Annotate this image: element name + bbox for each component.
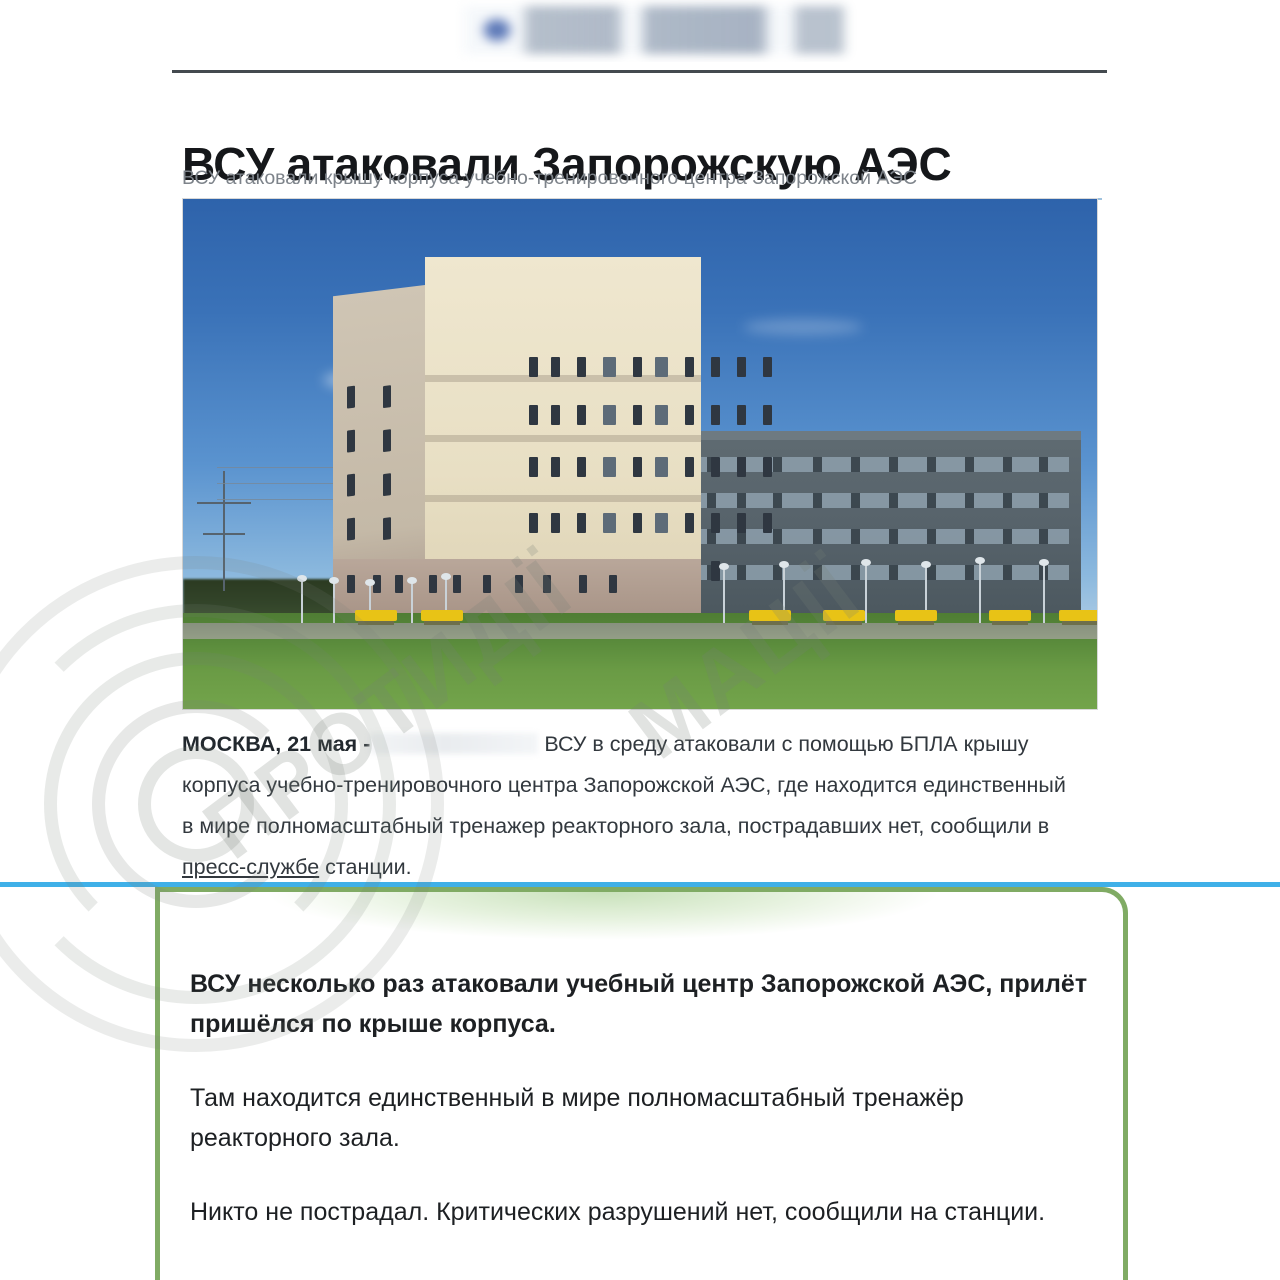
telegram-paragraph-3: Никто не пострадал. Критических разрушен…: [190, 1192, 1102, 1232]
photo-lamp-post: [723, 569, 725, 623]
article-subheadline: ВСУ атаковали крышу корпуса учебно-трени…: [182, 166, 1102, 191]
photo-lamp-post: [865, 565, 867, 623]
telegram-message-bubble: ВСУ несколько раз атаковали учебный цент…: [155, 887, 1128, 1280]
photo-bench: [1059, 610, 1098, 621]
telegram-paragraph-1: ВСУ несколько раз атаковали учебный цент…: [190, 964, 1102, 1044]
telegram-paragraph-2: Там находится единственный в мире полном…: [190, 1078, 1102, 1158]
photo-bench: [355, 610, 397, 621]
article-photo: [182, 198, 1098, 710]
screenshot-root: ВСУ атаковали Запорожскую АЭС ВСУ атаков…: [0, 0, 1280, 1280]
photo-lamp-post: [979, 563, 981, 623]
press-service-link[interactable]: пресс-службе: [182, 855, 319, 879]
photo-lamp-post: [333, 583, 335, 623]
publisher-logo-strip: [0, 0, 1280, 62]
photo-walkway: [183, 623, 1097, 639]
photo-lamp-post: [301, 581, 303, 623]
publisher-logo-blurred: [459, 6, 849, 54]
article-dateline: МОСКВА, 21 мая -: [182, 732, 370, 756]
photo-lamp-post: [1043, 565, 1045, 623]
photo-bench: [895, 610, 937, 621]
article-body: МОСКВА, 21 мая - ВСУ в среду атаковали с…: [182, 724, 1082, 888]
bubble-top-glow: [160, 892, 1123, 966]
photo-bench: [421, 610, 463, 621]
photo-power-pylon: [223, 471, 225, 591]
photo-main-building: [333, 257, 701, 617]
photo-lamp-post: [411, 583, 413, 623]
news-article: ВСУ атаковали Запорожскую АЭС ВСУ атаков…: [0, 62, 1280, 885]
photo-bench: [749, 610, 791, 621]
telegram-message-text: ВСУ несколько раз атаковали учебный цент…: [190, 964, 1102, 1266]
photo-cloud: [743, 319, 863, 335]
redacted-source-name: [370, 733, 538, 754]
photo-bench: [823, 610, 865, 621]
photo-bench: [989, 610, 1031, 621]
article-body-tail: станции.: [325, 855, 412, 879]
article-top-rule: [172, 70, 1107, 73]
